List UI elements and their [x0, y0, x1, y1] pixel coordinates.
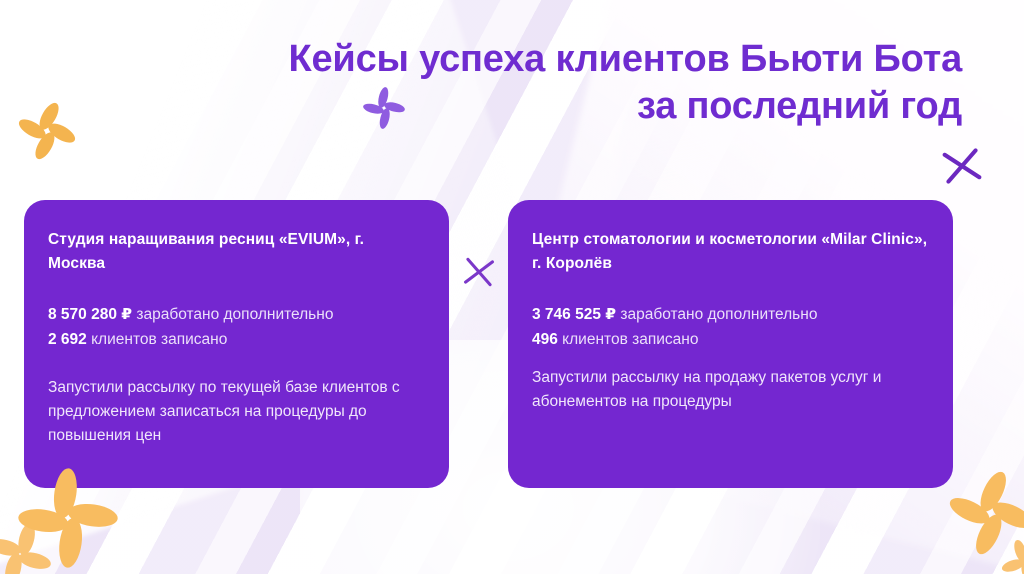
- stat-row-clients: 496 клиентов записано: [532, 327, 929, 352]
- case-card-left-stats: 8 570 280 ₽ заработано дополнительно 2 6…: [48, 302, 425, 352]
- stat-clients-label: клиентов записано: [558, 331, 699, 348]
- case-card-left-heading: Студия наращивания ресниц «EVIUM», г. Мо…: [48, 228, 425, 276]
- stat-revenue-value: 3 746 525 ₽: [532, 306, 616, 323]
- stat-row-clients: 2 692 клиентов записано: [48, 327, 425, 352]
- stat-revenue-value: 8 570 280 ₽: [48, 306, 132, 323]
- stat-row-revenue: 8 570 280 ₽ заработано дополнительно: [48, 302, 425, 327]
- stat-row-revenue: 3 746 525 ₽ заработано дополнительно: [532, 302, 929, 327]
- case-card-right-heading: Центр стоматологии и косметологии «Milar…: [532, 228, 929, 276]
- page-title: Кейсы успеха клиентов Бьюти Бота за посл…: [0, 36, 962, 130]
- case-card-right: Центр стоматологии и косметологии «Milar…: [508, 200, 953, 488]
- page-title-line-1: Кейсы успеха клиентов Бьюти Бота: [0, 36, 962, 83]
- stat-clients-value: 2 692: [48, 331, 87, 348]
- slide-canvas: Кейсы успеха клиентов Бьюти Бота за посл…: [0, 0, 1024, 574]
- stat-clients-label: клиентов записано: [87, 331, 228, 348]
- stat-revenue-label: заработано дополнительно: [132, 306, 333, 323]
- stat-revenue-label: заработано дополнительно: [616, 306, 817, 323]
- case-card-right-stats: 3 746 525 ₽ заработано дополнительно 496…: [532, 302, 929, 352]
- case-card-right-description: Запустили рассылку на продажу пакетов ус…: [532, 366, 929, 414]
- case-card-left: Студия наращивания ресниц «EVIUM», г. Мо…: [24, 200, 449, 488]
- case-card-left-description: Запустили рассылку по текущей базе клиен…: [48, 376, 425, 448]
- stat-clients-value: 496: [532, 331, 558, 348]
- page-title-line-2: за последний год: [0, 83, 962, 130]
